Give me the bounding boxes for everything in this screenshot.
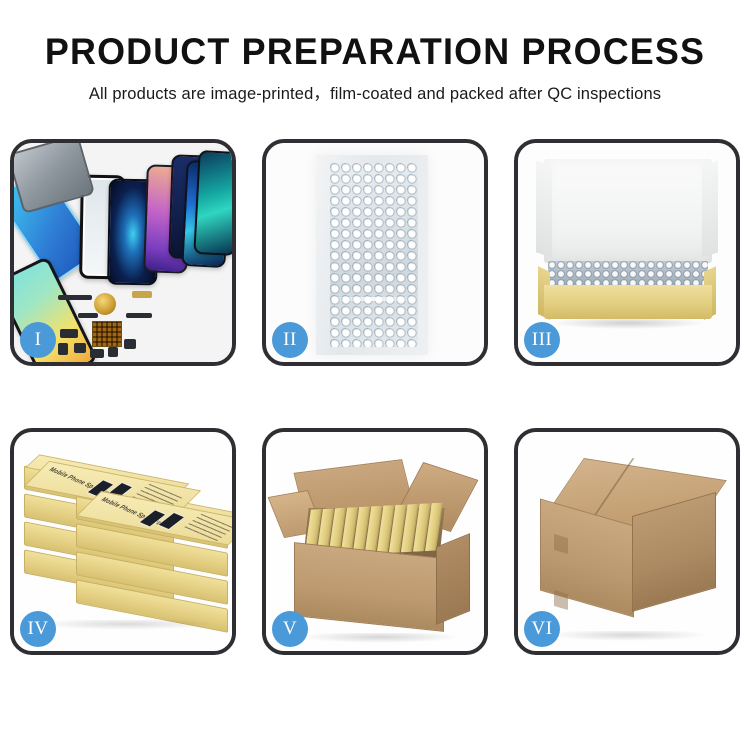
carton-shadow	[300, 633, 460, 643]
connector-grid-part	[92, 321, 122, 347]
speaker-part	[90, 349, 104, 358]
vibration-motor-part	[94, 293, 116, 315]
step-panel-1: I	[10, 139, 236, 366]
bubble-wrap-image: II	[266, 143, 484, 362]
camera-module-part	[60, 329, 78, 338]
phone-teal-screen	[193, 150, 232, 256]
box-lid-left-flap	[536, 160, 552, 257]
phone-parts-image: I	[14, 143, 232, 362]
box-lid-white	[544, 159, 712, 263]
page-subtitle: All products are image-printed，film-coat…	[0, 82, 750, 106]
step-badge-5: V	[272, 611, 308, 647]
gold-contact-part	[132, 291, 152, 298]
page-title: PRODUCT PREPARATION PROCESS	[11, 30, 739, 74]
stacked-boxes-image: Mobile Phone Spare Parts Mobile Phone Sp…	[14, 432, 232, 651]
process-steps-grid: I II III	[10, 139, 740, 655]
step-panel-3: III	[514, 139, 740, 366]
box-shadow	[552, 319, 704, 329]
ribbon-part	[78, 313, 98, 318]
step-badge-6: VI	[524, 611, 560, 647]
bubble-wrap-seam	[332, 297, 416, 301]
step-badge-3: III	[524, 322, 560, 358]
button-part	[74, 343, 86, 353]
step-panel-2: II	[262, 139, 488, 366]
sealed-carton-image: VI	[518, 432, 736, 651]
inner-box-image: III	[518, 143, 736, 362]
bubble-wrapped-contents	[548, 261, 708, 287]
bubble-wrap-sheet	[316, 155, 428, 355]
bubble-wrap-texture	[330, 163, 418, 347]
product-preparation-page: PRODUCT PREPARATION PROCESS All products…	[0, 0, 750, 750]
step-panel-4: Mobile Phone Spare Parts Mobile Phone Sp…	[10, 428, 236, 655]
box-front-kraft	[544, 285, 712, 319]
box-stack: Mobile Phone Spare Parts Mobile Phone Sp…	[20, 450, 232, 636]
carton-filling-image: V	[266, 432, 484, 651]
carton-front-face	[294, 542, 444, 632]
carton-handle-tab	[554, 590, 568, 610]
taptic-part	[124, 339, 136, 349]
page-header: PRODUCT PREPARATION PROCESS All products…	[0, 0, 750, 106]
sealed-carton-shadow	[548, 631, 708, 641]
stack-shadow	[36, 620, 216, 630]
sim-tray-part	[58, 343, 68, 355]
screw-part	[108, 347, 118, 357]
step-panel-5: V	[262, 428, 488, 655]
box-lid-right-flap	[702, 160, 718, 257]
box-spec-lines	[183, 514, 232, 542]
step-badge-2: II	[272, 322, 308, 358]
antenna-cable-part	[126, 313, 152, 318]
carton-side-face	[436, 533, 470, 625]
flex-cable-part	[58, 295, 92, 300]
step-panel-6: VI	[514, 428, 740, 655]
step-badge-4: IV	[20, 611, 56, 647]
step-badge-1: I	[20, 322, 56, 358]
